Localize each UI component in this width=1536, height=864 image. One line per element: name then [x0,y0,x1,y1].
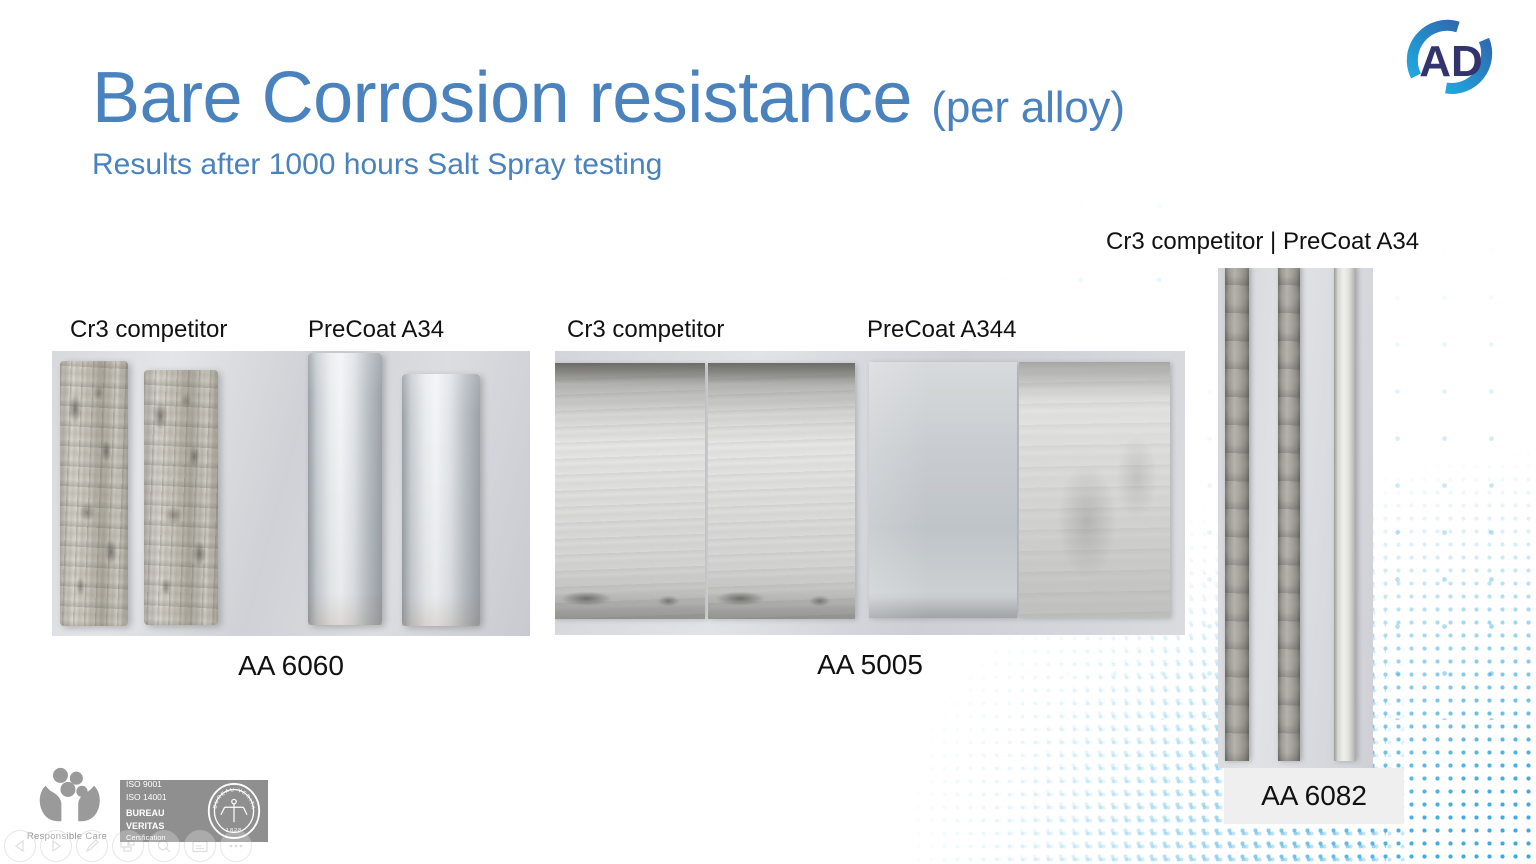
pen-icon [84,838,100,854]
responsible-care-icon [24,767,110,825]
iso-9001-line: ISO 9001 [126,778,202,790]
label-cr3-competitor-precoat-6082: Cr3 competitor | PreCoat A34 [1106,228,1419,256]
grid-slides-icon [120,839,136,853]
sample-cr3-competitor-panel-2 [708,363,855,619]
caption-aa6082: AA 6082 [1224,768,1404,824]
label-cr3-competitor-5005: Cr3 competitor [567,316,867,344]
sample-group-aa6060: Cr3 competitor PreCoat A34 AA 6060 [52,316,530,682]
next-slide-button[interactable] [40,830,72,862]
zoom-slide-button[interactable] [148,830,180,862]
title-block: Bare Corrosion resistance (per alloy) Re… [92,62,1332,182]
logo-text: AD [1419,37,1483,86]
caption-aa6060: AA 6060 [52,650,530,682]
subtitles-icon [192,840,208,853]
slideshow-toolbar[interactable] [4,830,252,862]
page-title-qualifier: (per alloy) [931,83,1124,132]
sample-cr3-competitor-panel-1 [555,363,705,619]
ad-brand-logo: AD [1396,14,1506,100]
pen-tools-button[interactable] [76,830,108,862]
sample-cr3-competitor-bar-1 [1225,268,1249,761]
page-title: Bare Corrosion resistance (per alloy) [92,62,1332,134]
magnifier-icon [156,838,172,854]
sample-cr3-competitor-cylinder-2 [144,370,218,625]
page-subtitle: Results after 1000 hours Salt Spray test… [92,148,1332,182]
label-precoat-a344-5005: PreCoat A344 [867,316,1016,344]
iso-org-line: BUREAU VERITAS [126,807,202,833]
label-precoat-a34-6060: PreCoat A34 [308,316,444,344]
sample-precoat-a34-cylinder-1 [308,353,382,625]
triangle-right-icon [49,839,63,853]
photo-aa5005 [555,351,1185,635]
sample-precoat-a344-panel-1 [869,362,1017,618]
sample-group-aa5005-headers: Cr3 competitor PreCoat A344 [555,316,1185,344]
presentation-slide: AD Bare Corrosion resistance (per alloy)… [0,0,1536,864]
subtitles-button[interactable] [184,830,216,862]
ellipsis-icon [227,843,245,849]
sample-precoat-a34-cylinder-2 [402,374,480,626]
label-cr3-competitor-6060: Cr3 competitor [70,316,308,344]
more-options-button[interactable] [220,830,252,862]
sample-cr3-competitor-bar-2 [1278,268,1300,761]
previous-slide-button[interactable] [4,830,36,862]
sample-group-aa6060-headers: Cr3 competitor PreCoat A34 [52,316,530,344]
page-title-main: Bare Corrosion resistance [92,58,912,138]
all-slides-button[interactable] [112,830,144,862]
sample-group-aa6082: Cr3 competitor | PreCoat A34 AA 6082 [1106,228,1506,768]
iso-14001-line: ISO 14001 [126,791,202,803]
caption-aa6082-text: AA 6082 [1261,780,1367,812]
sample-cr3-competitor-cylinder-1 [60,361,128,626]
sample-group-aa6082-headers: Cr3 competitor | PreCoat A34 [1106,228,1506,256]
sample-precoat-a34-bar-1 [1334,268,1356,761]
photo-aa6082 [1218,268,1373,768]
caption-aa5005: AA 5005 [555,649,1185,681]
triangle-left-icon [13,839,27,853]
sample-group-aa5005: Cr3 competitor PreCoat A344 AA 5005 [555,316,1185,681]
photo-aa6060 [52,351,530,636]
